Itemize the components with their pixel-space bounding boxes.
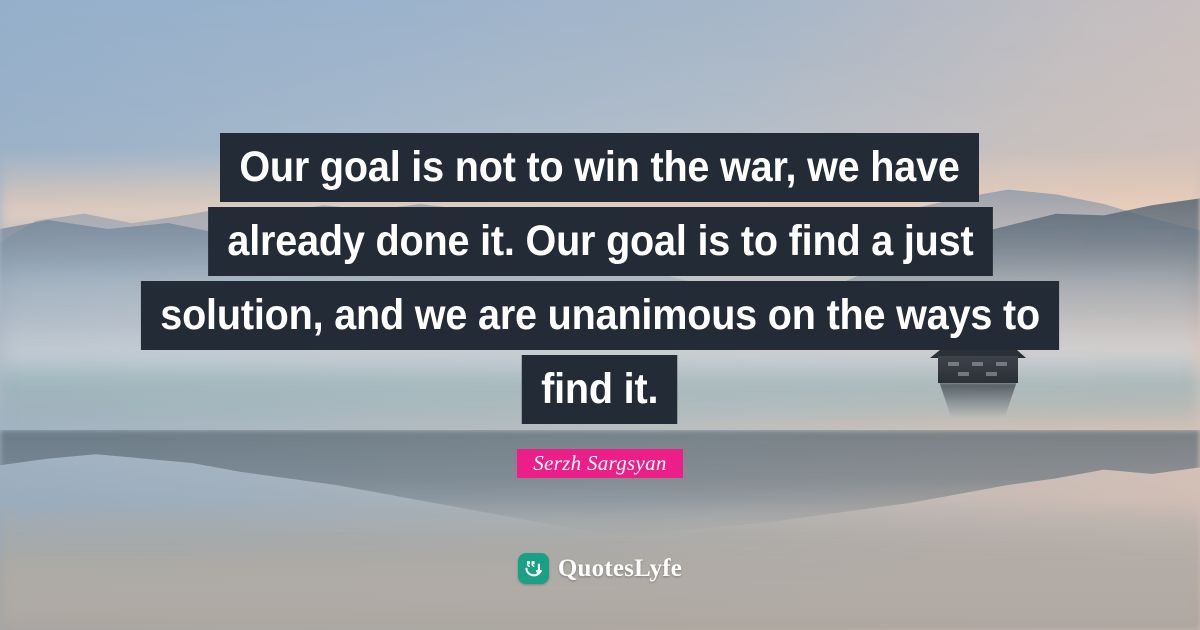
quote-text-block: Our goal is not to win the war, we have … (0, 133, 1200, 424)
quote-line: Our goal is not to win the war, we have (220, 133, 979, 202)
quote-smiley-icon (518, 553, 549, 584)
quote-line: already done it. Our goal is to find a j… (208, 207, 993, 276)
brand-name: QuotesLyfe (558, 555, 682, 583)
quote-image-canvas: Our goal is not to win the war, we have … (0, 0, 1200, 630)
author-name-badge: Serzh Sargsyan (517, 449, 683, 478)
brand-footer: QuotesLyfe (0, 553, 1200, 584)
quote-line: find it. (522, 355, 678, 424)
author-attribution: Serzh Sargsyan (0, 449, 1200, 478)
quote-line: solution, and we are unanimous on the wa… (141, 281, 1059, 350)
